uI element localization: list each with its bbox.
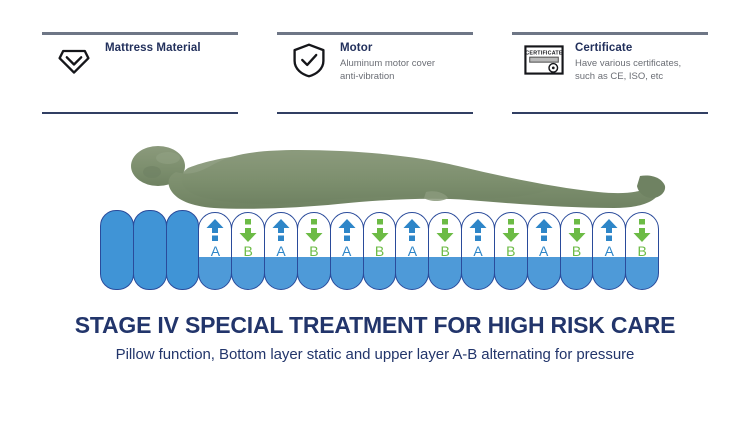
mattress-pillow-cell (100, 210, 134, 290)
arrow-down-icon (238, 218, 258, 243)
arrow-down-icon (632, 218, 652, 243)
arrow-up-icon (402, 218, 422, 243)
arrow-up-icon (205, 218, 225, 243)
cell-letter: A (408, 244, 417, 258)
cell-letter: A (211, 244, 220, 258)
arrow-down-icon (435, 218, 455, 243)
cell-letter: B (244, 244, 253, 258)
feature-cards-row: Mattress Material Motor Aluminum motor c… (0, 28, 750, 110)
mattress-cell-a: A (527, 212, 561, 290)
cell-letter: A (539, 244, 548, 258)
feature-card-motor[interactable]: Motor Aluminum motor cover anti-vibratio… (277, 28, 473, 110)
feature-text-block: Certificate Have various certificates, s… (575, 37, 681, 84)
arrow-up-icon (534, 218, 554, 243)
certificate-icon-label: CERTIFICATE (525, 50, 563, 56)
mattress-cell-b: B (363, 212, 397, 290)
arrow-down-icon (567, 218, 587, 243)
feature-card-mattress-material[interactable]: Mattress Material (42, 28, 238, 110)
mattress-cell-a: A (395, 212, 429, 290)
cells-container: ABABABABABABAB (100, 208, 658, 290)
arrow-down-icon (501, 218, 521, 243)
caption-block: STAGE IV SPECIAL TREATMENT FOR HIGH RISK… (0, 312, 750, 365)
mattress-cell-b: B (560, 212, 594, 290)
mattress-cell-a: A (330, 212, 364, 290)
card-top-rule (42, 32, 238, 35)
cell-letter: B (441, 244, 450, 258)
mattress-cell-a: A (264, 212, 298, 290)
infographic-page: Mattress Material Motor Aluminum motor c… (0, 0, 750, 426)
mattress-cell-b: B (494, 212, 528, 290)
caption-title: STAGE IV SPECIAL TREATMENT FOR HIGH RISK… (0, 312, 750, 339)
mattress-illustration: ABABABABABABAB (0, 130, 750, 310)
mattress-pillow-cell (133, 210, 167, 290)
cell-letter: B (572, 244, 581, 258)
shield-check-icon (289, 39, 329, 81)
mattress-cell-a: A (461, 212, 495, 290)
feature-text-block: Motor Aluminum motor cover anti-vibratio… (340, 37, 435, 84)
mattress-pillow-cell (166, 210, 200, 290)
feature-text-block: Mattress Material (105, 37, 201, 57)
mattress-cell-b: B (428, 212, 462, 290)
cell-letter: A (342, 244, 351, 258)
mattress-cell-b: B (625, 212, 659, 290)
feature-title: Mattress Material (105, 41, 201, 55)
arrow-up-icon (271, 218, 291, 243)
arrow-down-icon (370, 218, 390, 243)
cell-letter: B (309, 244, 318, 258)
feature-title: Certificate (575, 41, 681, 55)
mattress-cell-a: A (198, 212, 232, 290)
feature-card-certificate[interactable]: CERTIFICATE Certificate Have various cer… (512, 28, 708, 110)
card-top-rule (512, 32, 708, 35)
cell-letter: A (473, 244, 482, 258)
feature-desc: Aluminum motor cover anti-vibration (340, 57, 435, 83)
mattress-cell-row: ABABABABABABAB (100, 208, 658, 290)
cell-letter: B (506, 244, 515, 258)
caption-subtitle: Pillow function, Bottom layer static and… (0, 345, 750, 365)
cell-letter: B (637, 244, 646, 258)
arrow-up-icon (337, 218, 357, 243)
arrow-up-icon (599, 218, 619, 243)
arrow-down-icon (304, 218, 324, 243)
card-top-rule (277, 32, 473, 35)
feature-title: Motor (340, 41, 435, 55)
card-bottom-rule (512, 112, 708, 114)
patient-body-figure (128, 142, 668, 217)
cell-letter: A (605, 244, 614, 258)
card-bottom-rule (277, 112, 473, 114)
certificate-icon: CERTIFICATE (524, 39, 564, 81)
feature-desc: Have various certificates, such as CE, I… (575, 57, 681, 83)
arrow-up-icon (468, 218, 488, 243)
mattress-cell-a: A (592, 212, 626, 290)
cell-letter: A (276, 244, 285, 258)
mattress-cell-b: B (231, 212, 265, 290)
card-bottom-rule (42, 112, 238, 114)
cell-letter: B (375, 244, 384, 258)
mattress-cell-b: B (297, 212, 331, 290)
gem-diamond-icon (54, 39, 94, 81)
